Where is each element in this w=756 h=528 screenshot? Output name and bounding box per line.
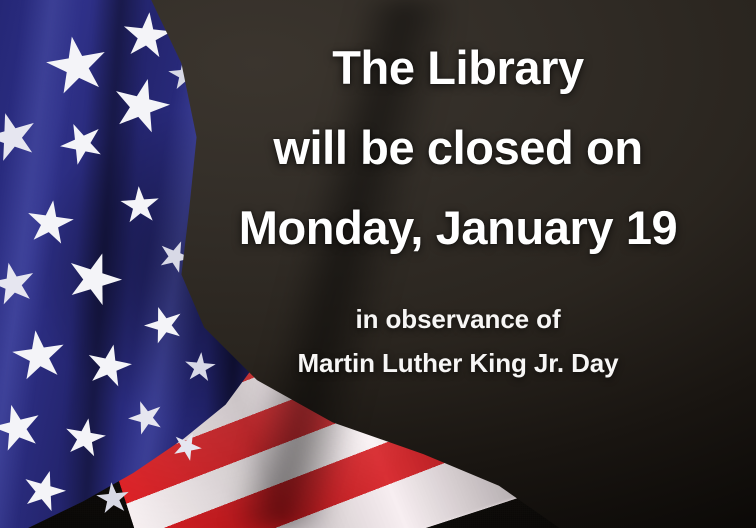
subhead-line-2: Martin Luther King Jr. Day	[160, 350, 756, 376]
subhead-line-1: in observance of	[160, 306, 756, 332]
headline-line-2: will be closed on	[160, 124, 756, 171]
library-closure-poster: The Library will be closed on Monday, Ja…	[0, 0, 756, 528]
headline-line-3: Monday, January 19	[160, 204, 756, 251]
poster-text-block: The Library will be closed on Monday, Ja…	[160, 0, 756, 528]
headline-line-1: The Library	[160, 44, 756, 91]
